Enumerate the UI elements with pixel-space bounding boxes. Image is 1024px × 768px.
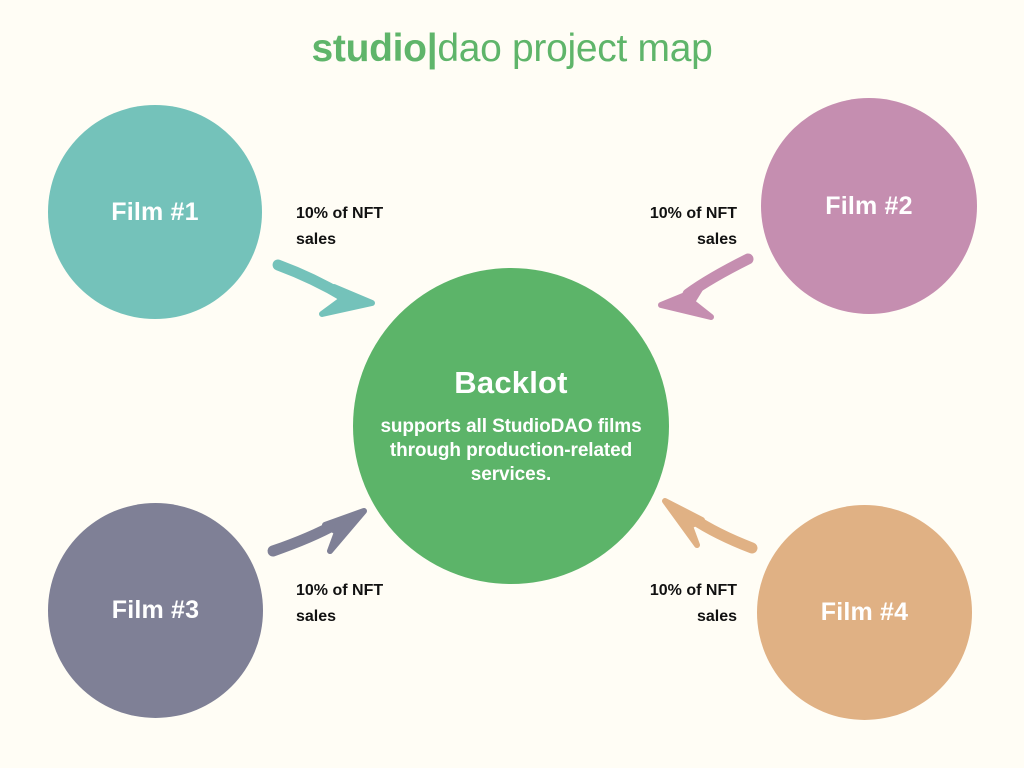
node-film-4[interactable]: Film #4: [757, 505, 972, 720]
title-light: dao project map: [437, 27, 712, 70]
node-film-1[interactable]: Film #1: [48, 105, 262, 319]
edge-label-film-4: 10% of NFT sales: [565, 578, 737, 630]
node-film-3-label: Film #3: [112, 596, 200, 625]
diagram-canvas: studio|dao project map Film #1 Film #2: [0, 0, 1024, 768]
node-film-3[interactable]: Film #3: [48, 503, 263, 718]
node-backlot-description: supports all StudioDAO films through pro…: [379, 415, 643, 487]
node-film-4-label: Film #4: [821, 598, 909, 627]
node-film-2-label: Film #2: [825, 192, 913, 221]
node-backlot-title: Backlot: [454, 365, 567, 401]
title-strong: studio: [312, 27, 427, 70]
edge-label-film-3: 10% of NFT sales: [296, 578, 456, 630]
edge-label-film-2: 10% of NFT sales: [565, 201, 737, 253]
page-title: studio|dao project map: [0, 26, 1024, 73]
title-separator: |: [427, 27, 438, 70]
edge-label-film-1: 10% of NFT sales: [296, 201, 456, 253]
arrow-film3-to-backlot: [273, 511, 364, 551]
arrow-film2-to-backlot: [661, 259, 748, 317]
arrow-film4-to-backlot: [665, 501, 752, 548]
node-film-1-label: Film #1: [111, 198, 199, 227]
node-backlot[interactable]: Backlot supports all StudioDAO films thr…: [353, 268, 669, 584]
arrow-film1-to-backlot: [278, 265, 372, 314]
node-film-2[interactable]: Film #2: [761, 98, 977, 314]
